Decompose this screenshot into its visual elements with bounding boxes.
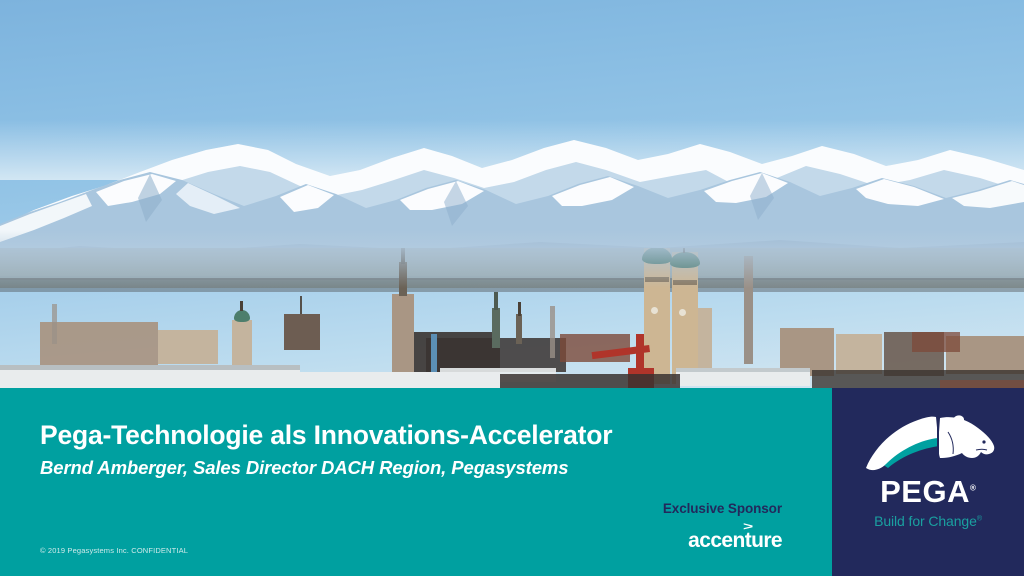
accenture-logo: > accenture [596, 524, 782, 554]
sponsor-block: Exclusive Sponsor [556, 502, 782, 516]
accenture-wordmark: accenture [688, 530, 782, 551]
page-title: Pega-Technologie als Innovations-Acceler… [40, 420, 612, 451]
munich-skyline-photo [0, 0, 1024, 392]
pega-tagline: Build for Change® [832, 514, 1024, 528]
pega-wordmark-text: PEGA [880, 474, 970, 509]
pega-wordmark: PEGA® [832, 476, 1024, 507]
cityscape [0, 248, 1024, 392]
pegasus-mark-icon [860, 412, 998, 474]
pega-tagline-registered-mark: ® [977, 515, 982, 522]
title-slide: Pega-Technologie als Innovations-Acceler… [0, 0, 1024, 576]
copyright-notice: © 2019 Pegasystems Inc. CONFIDENTIAL [40, 546, 188, 555]
presenter-subtitle: Bernd Amberger, Sales Director DACH Regi… [40, 457, 568, 479]
pega-tagline-text: Build for Change [874, 513, 977, 529]
pega-registered-mark: ® [970, 484, 976, 493]
sponsor-label: Exclusive Sponsor [556, 502, 782, 516]
pega-logo: PEGA® Build for Change® [832, 388, 1024, 576]
city-haze [0, 248, 1024, 288]
